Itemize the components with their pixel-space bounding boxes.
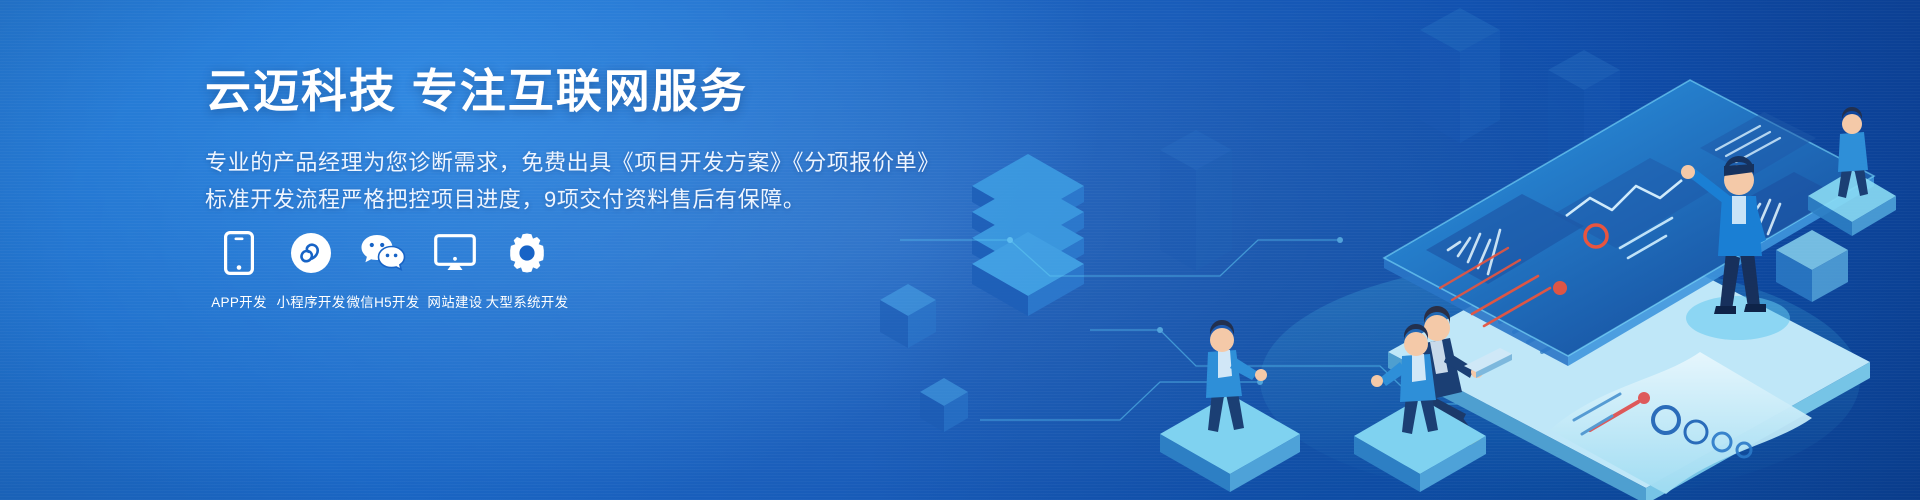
- monitor-icon: [434, 228, 476, 278]
- mini-program-icon: [290, 228, 332, 278]
- copy-block: 云迈科技 专注互联网服务 专业的产品经理为您诊断需求，免费出具《项目开发方案》《…: [205, 66, 925, 219]
- service-list: APP开发 小程序开发: [203, 228, 563, 311]
- service-label: 小程序开发: [277, 291, 346, 311]
- gear-icon: [506, 228, 548, 278]
- subtitle-line-1: 专业的产品经理为您诊断需求，免费出具《项目开发方案》《分项报价单》: [205, 144, 925, 182]
- hero-banner: 云迈科技 专注互联网服务 专业的产品经理为您诊断需求，免费出具《项目开发方案》《…: [0, 0, 1920, 500]
- mobile-phone-icon: [224, 228, 254, 278]
- service-label: 网站建设: [427, 291, 482, 311]
- service-label: 微信H5开发: [346, 291, 419, 311]
- subtitle-block: 专业的产品经理为您诊断需求，免费出具《项目开发方案》《分项报价单》 标准开发流程…: [205, 144, 925, 220]
- illustration: [860, 0, 1920, 500]
- server-stack: [972, 154, 1084, 316]
- wechat-icon: [360, 228, 406, 278]
- service-item-website[interactable]: 网站建设: [419, 228, 491, 311]
- subtitle-line-2: 标准开发流程严格把控项目进度，9项交付资料售后有保障。: [205, 181, 925, 219]
- service-label: 大型系统开发: [486, 291, 569, 311]
- service-label: APP开发: [211, 291, 267, 311]
- floating-cubes: [880, 284, 968, 432]
- service-item-miniprogram[interactable]: 小程序开发: [275, 228, 347, 311]
- service-item-large-system[interactable]: 大型系统开发: [491, 228, 563, 311]
- page-title: 云迈科技 专注互联网服务: [205, 66, 925, 117]
- service-item-app[interactable]: APP开发: [203, 228, 275, 311]
- accent-cube: [1776, 230, 1848, 302]
- service-item-wechat-h5[interactable]: 微信H5开发: [347, 228, 419, 311]
